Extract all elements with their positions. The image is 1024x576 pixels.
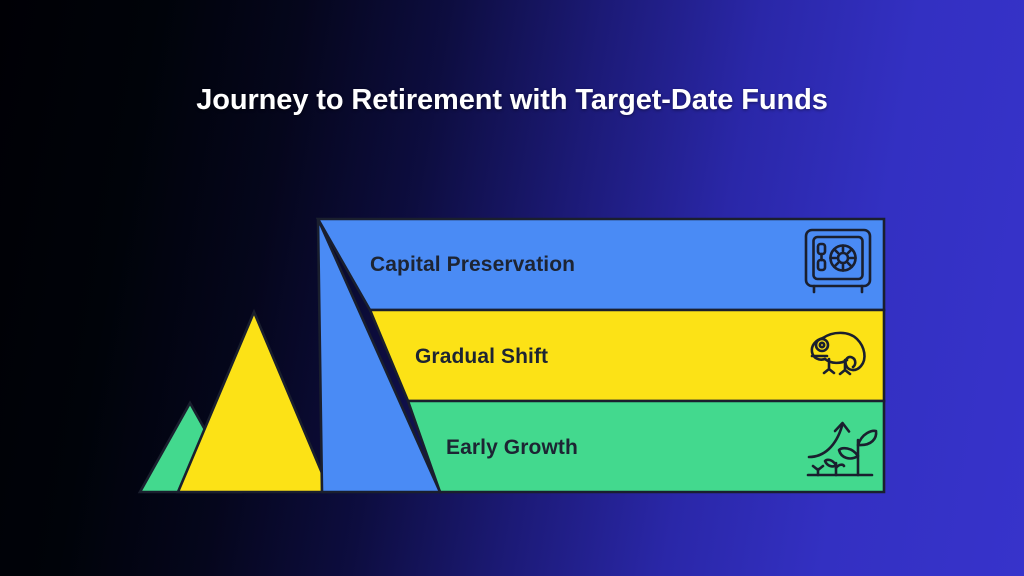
band-label-capital-preservation: Capital Preservation bbox=[370, 253, 575, 277]
band-label-early-growth: Early Growth bbox=[446, 436, 578, 460]
infographic-canvas: Journey to Retirement with Target-Date F… bbox=[0, 0, 1024, 576]
mountain-medium-yellow bbox=[178, 312, 330, 492]
stages-diagram bbox=[0, 0, 1024, 576]
band-label-gradual-shift: Gradual Shift bbox=[415, 345, 548, 369]
